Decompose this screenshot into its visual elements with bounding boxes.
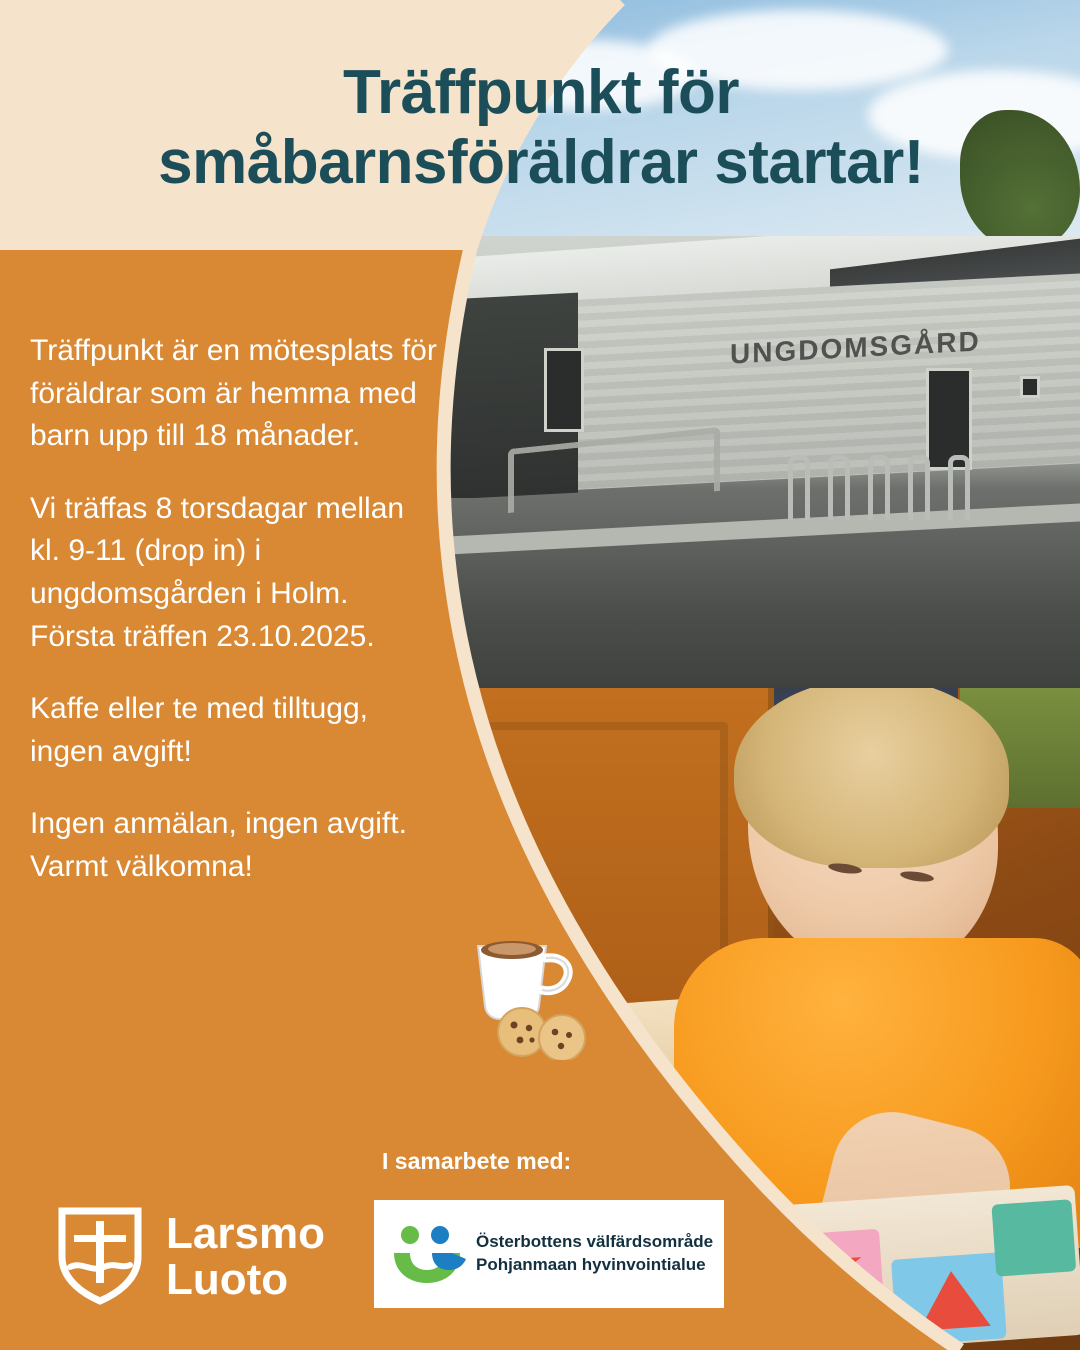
boat-logo-icon (52, 1205, 148, 1309)
municipality-logo-text: Larsmo Luoto (166, 1211, 325, 1303)
municipality-name-sv: Larsmo (166, 1211, 325, 1257)
puzzle-piece-teal (991, 1199, 1076, 1276)
headline-line-1: Träffpunkt för (36, 58, 1046, 128)
child-hair (734, 688, 1009, 868)
collaboration-label: I samarbete med: (382, 1148, 571, 1175)
partner-name-sv: Österbottens välfärdsområde (476, 1231, 713, 1254)
bike-rack (948, 455, 970, 520)
paragraph-schedule: Vi träffas 8 torsdagar mellan kl. 9-11 (… (30, 488, 440, 658)
partner-name-fi: Pohjanmaan hyvinvointialue (476, 1254, 713, 1277)
partner-logo: Österbottens välfärdsområde Pohjanmaan h… (374, 1200, 724, 1308)
paragraph-refreshments: Kaffe eller te med tilltugg, ingen avgif… (30, 688, 440, 773)
municipality-logo: Larsmo Luoto (52, 1205, 325, 1309)
partner-logo-text: Österbottens välfärdsområde Pohjanmaan h… (476, 1231, 713, 1277)
body-copy: Träffpunkt är en mötesplats för föräldra… (30, 330, 440, 889)
paragraph-signup: Ingen anmälan, ingen avgift. Varmt välko… (30, 803, 440, 888)
partner-mark-icon (388, 1219, 466, 1289)
bike-rack (868, 455, 890, 520)
headline-line-2: småbarnsföräldrar startar! (36, 128, 1046, 198)
page-title: Träffpunkt för småbarnsföräldrar startar… (36, 58, 1046, 198)
bike-rack (908, 455, 930, 520)
bike-rack (788, 455, 810, 520)
window-shape (1020, 376, 1040, 398)
poster-canvas: UNGDOMSGÅRD (0, 0, 1080, 1350)
municipality-name-fi: Luoto (166, 1257, 325, 1303)
building-photo: UNGDOMSGÅRD (448, 236, 1080, 688)
paragraph-intro: Träffpunkt är en mötesplats för föräldra… (30, 330, 440, 458)
coffee-cup-icon (462, 920, 602, 1060)
bike-rack (828, 455, 850, 520)
puzzle-piece-yellow (664, 1303, 764, 1350)
window-shape (544, 348, 584, 432)
cookies-icon (498, 1008, 585, 1060)
